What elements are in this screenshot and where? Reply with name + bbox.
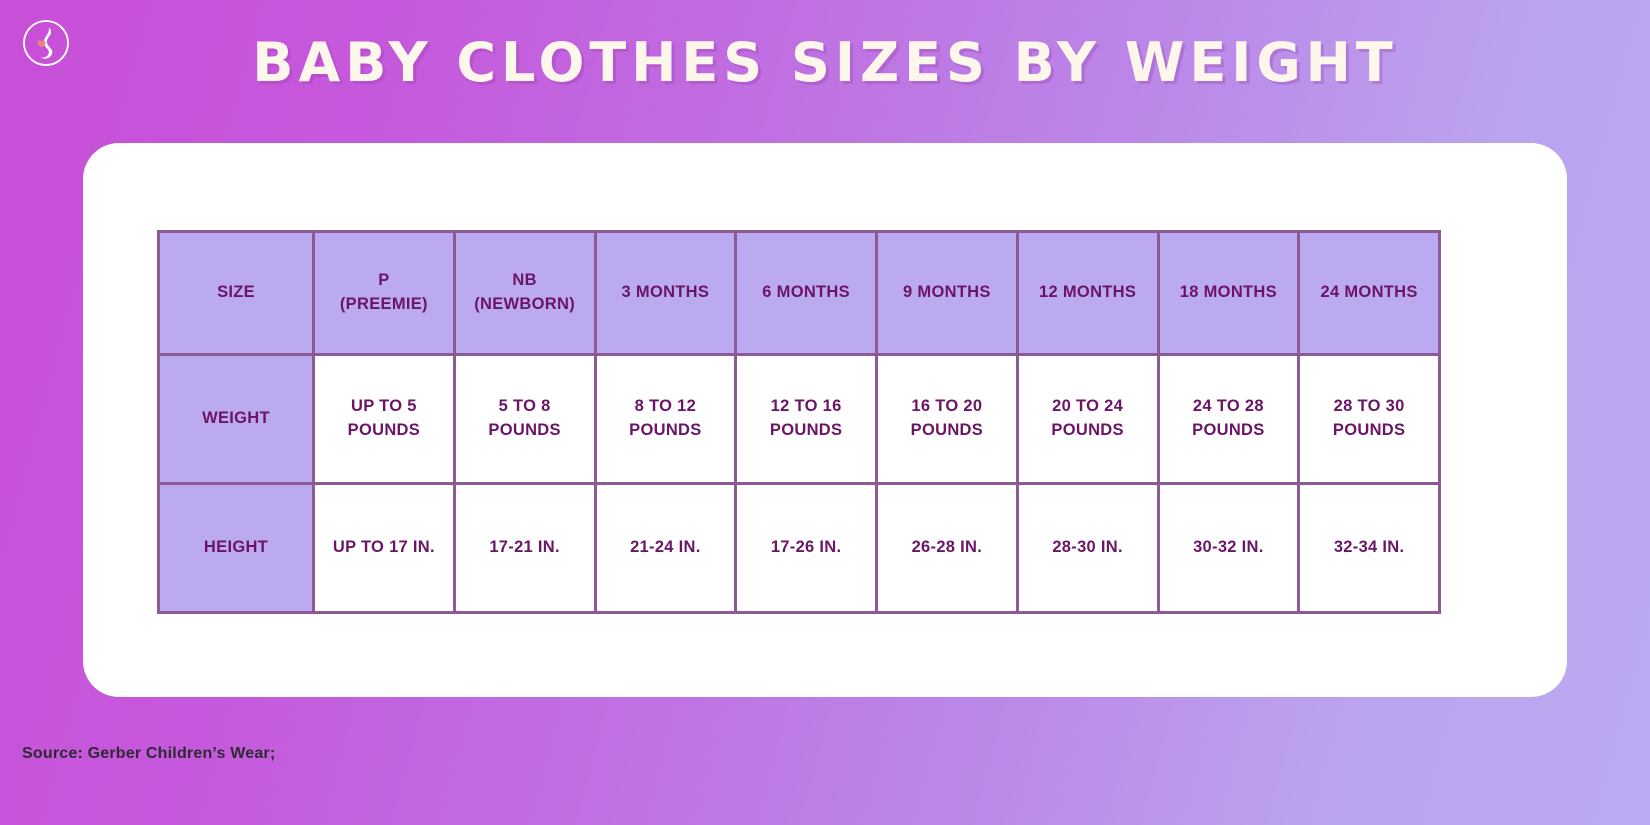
header-col-6-months-line1: 6 MONTHS <box>743 281 869 305</box>
height-3-months: 21-24 IN. <box>595 484 736 613</box>
height-preemie: UP TO 17 IN. <box>314 484 455 613</box>
weight-newborn: 5 TO 8 POUNDS <box>454 355 595 484</box>
weight-preemie-line1: UP TO 5 <box>321 395 447 419</box>
weight-12-months-line2: POUNDS <box>1025 419 1151 443</box>
height-24-months-line1: 32-34 IN. <box>1306 536 1432 560</box>
header-col-24-months: 24 MONTHS <box>1299 232 1440 355</box>
table-card: SIZE P (PREEMIE) NB (NEWBORN) 3 MONTH <box>83 143 1567 697</box>
source-attribution: Source: Gerber Children’s Wear; <box>22 745 275 763</box>
height-6-months-line1: 17-26 IN. <box>743 536 869 560</box>
height-newborn-line1: 17-21 IN. <box>462 536 588 560</box>
weight-9-months-line1: 16 TO 20 <box>884 395 1010 419</box>
weight-preemie-line2: POUNDS <box>321 419 447 443</box>
height-12-months-line1: 28-30 IN. <box>1025 536 1151 560</box>
height-18-months: 30-32 IN. <box>1158 484 1299 613</box>
header-size-label: SIZE <box>159 232 314 355</box>
weight-6-months: 12 TO 16 POUNDS <box>736 355 877 484</box>
weight-preemie: UP TO 5 POUNDS <box>314 355 455 484</box>
header-col-3-months: 3 MONTHS <box>595 232 736 355</box>
header-col-preemie: P (PREEMIE) <box>314 232 455 355</box>
weight-6-months-line1: 12 TO 16 <box>743 395 869 419</box>
table-row-weight: WEIGHT UP TO 5 POUNDS 5 TO 8 POUNDS 8 <box>159 355 1440 484</box>
header-col-12-months-line1: 12 MONTHS <box>1025 281 1151 305</box>
weight-6-months-line2: POUNDS <box>743 419 869 443</box>
weight-3-months: 8 TO 12 POUNDS <box>595 355 736 484</box>
weight-newborn-line1: 5 TO 8 <box>462 395 588 419</box>
table-row-height: HEIGHT UP TO 17 IN. 17-21 IN. 21-24 IN. <box>159 484 1440 613</box>
height-preemie-line1: UP TO 17 IN. <box>321 536 447 560</box>
weight-3-months-line1: 8 TO 12 <box>603 395 729 419</box>
height-9-months-line1: 26-28 IN. <box>884 536 1010 560</box>
height-12-months: 28-30 IN. <box>1017 484 1158 613</box>
header-col-18-months: 18 MONTHS <box>1158 232 1299 355</box>
header-col-newborn: NB (NEWBORN) <box>454 232 595 355</box>
row-label-weight: WEIGHT <box>159 355 314 484</box>
row-label-height: HEIGHT <box>159 484 314 613</box>
header-col-newborn-line2: (NEWBORN) <box>462 293 588 317</box>
weight-12-months-line1: 20 TO 24 <box>1025 395 1151 419</box>
header-col-18-months-line1: 18 MONTHS <box>1166 281 1292 305</box>
weight-18-months: 24 TO 28 POUNDS <box>1158 355 1299 484</box>
weight-newborn-line2: POUNDS <box>462 419 588 443</box>
height-9-months: 26-28 IN. <box>877 484 1018 613</box>
weight-24-months-line1: 28 TO 30 <box>1306 395 1432 419</box>
header-col-24-months-line1: 24 MONTHS <box>1306 281 1432 305</box>
weight-9-months: 16 TO 20 POUNDS <box>877 355 1018 484</box>
height-3-months-line1: 21-24 IN. <box>603 536 729 560</box>
header-col-9-months: 9 MONTHS <box>877 232 1018 355</box>
header-col-preemie-line1: P <box>321 269 447 293</box>
height-6-months: 17-26 IN. <box>736 484 877 613</box>
weight-24-months: 28 TO 30 POUNDS <box>1299 355 1440 484</box>
weight-9-months-line2: POUNDS <box>884 419 1010 443</box>
weight-18-months-line2: POUNDS <box>1166 419 1292 443</box>
table-header-row: SIZE P (PREEMIE) NB (NEWBORN) 3 MONTH <box>159 232 1440 355</box>
header-col-9-months-line1: 9 MONTHS <box>884 281 1010 305</box>
header-col-6-months: 6 MONTHS <box>736 232 877 355</box>
baby-sizes-table: SIZE P (PREEMIE) NB (NEWBORN) 3 MONTH <box>157 230 1441 614</box>
header-col-3-months-line1: 3 MONTHS <box>603 281 729 305</box>
header-col-newborn-line1: NB <box>462 269 588 293</box>
height-18-months-line1: 30-32 IN. <box>1166 536 1292 560</box>
height-newborn: 17-21 IN. <box>454 484 595 613</box>
header-col-12-months: 12 MONTHS <box>1017 232 1158 355</box>
weight-3-months-line2: POUNDS <box>603 419 729 443</box>
header-col-preemie-line2: (PREEMIE) <box>321 293 447 317</box>
weight-24-months-line2: POUNDS <box>1306 419 1432 443</box>
weight-12-months: 20 TO 24 POUNDS <box>1017 355 1158 484</box>
height-24-months: 32-34 IN. <box>1299 484 1440 613</box>
weight-18-months-line1: 24 TO 28 <box>1166 395 1292 419</box>
page-title: BABY CLOTHES SIZES BY WEIGHT <box>0 36 1650 90</box>
